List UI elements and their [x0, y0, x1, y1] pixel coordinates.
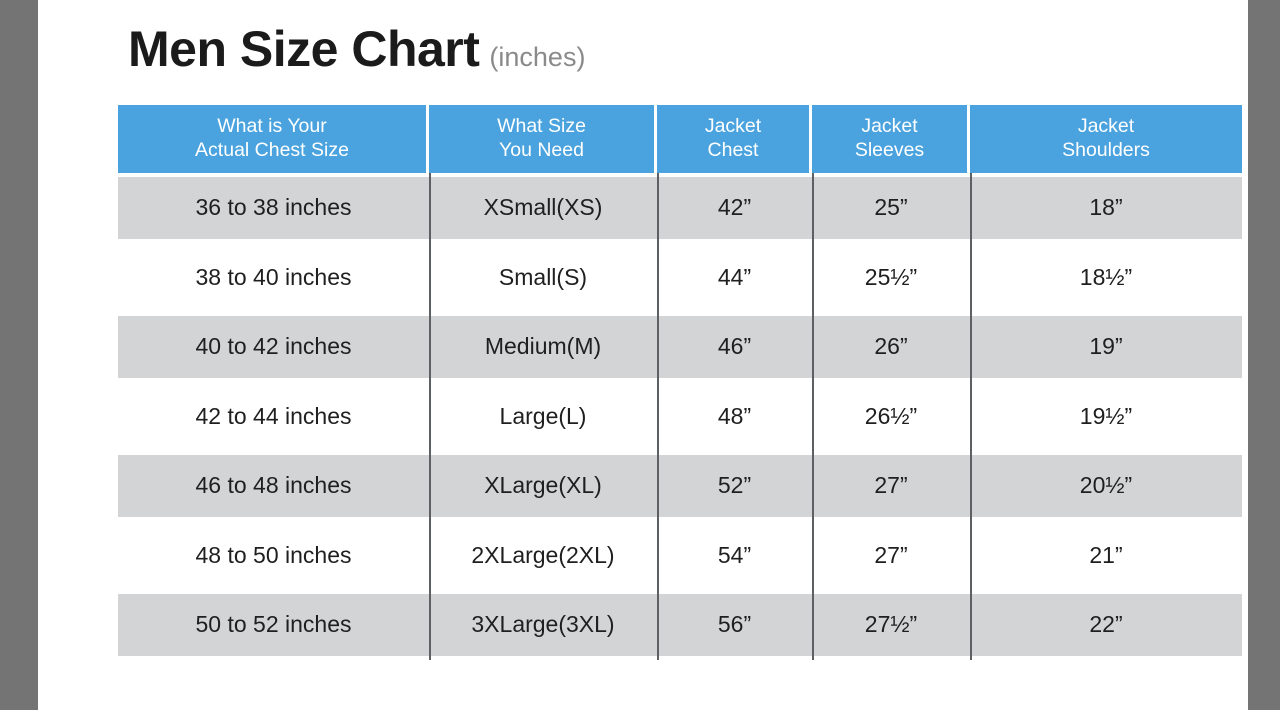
cell-actual-chest-size: 40 to 42 inches	[118, 312, 429, 382]
column-divider-3	[812, 173, 814, 660]
page-title-units: (inches)	[489, 42, 585, 73]
cell-jacket-sleeves: 25”	[812, 173, 970, 243]
page-title-main: Men Size Chart	[128, 20, 479, 78]
column-header-line1: What is Your	[217, 115, 326, 139]
cell-jacket-shoulders: 20½”	[970, 451, 1242, 521]
column-header-jacket-shoulders: Jacket Shoulders	[970, 105, 1242, 173]
column-divider-2	[657, 173, 659, 660]
table-row: 42 to 44 inchesLarge(L)48”26½”19½”	[118, 382, 1242, 452]
column-header-line1: Jacket	[861, 115, 917, 139]
cell-jacket-chest: 44”	[657, 243, 812, 313]
cell-jacket-sleeves: 27½”	[812, 590, 970, 660]
column-header-actual-chest-size: What is Your Actual Chest Size	[118, 105, 429, 173]
cell-jacket-sleeves: 25½”	[812, 243, 970, 313]
cell-jacket-chest: 52”	[657, 451, 812, 521]
cell-size-you-need: Small(S)	[429, 243, 657, 313]
column-divider-4	[970, 173, 972, 660]
cell-size-you-need: XLarge(XL)	[429, 451, 657, 521]
slide-canvas: Men Size Chart (inches) What is Your Act…	[38, 0, 1248, 710]
table-row: 46 to 48 inchesXLarge(XL)52”27”20½”	[118, 451, 1242, 521]
column-header-line2: Sleeves	[855, 139, 924, 163]
cell-jacket-chest: 46”	[657, 312, 812, 382]
cell-size-you-need: 3XLarge(3XL)	[429, 590, 657, 660]
column-header-jacket-chest: Jacket Chest	[657, 105, 812, 173]
page-title: Men Size Chart (inches)	[128, 20, 585, 78]
cell-jacket-shoulders: 18”	[970, 173, 1242, 243]
table-row: 50 to 52 inches3XLarge(3XL)56”27½”22”	[118, 590, 1242, 660]
cell-jacket-shoulders: 18½”	[970, 243, 1242, 313]
cell-jacket-chest: 56”	[657, 590, 812, 660]
table-row: 40 to 42 inchesMedium(M)46”26”19”	[118, 312, 1242, 382]
cell-size-you-need: Large(L)	[429, 382, 657, 452]
cell-jacket-sleeves: 27”	[812, 451, 970, 521]
column-header-line2: You Need	[499, 139, 584, 163]
column-header-size-you-need: What Size You Need	[429, 105, 657, 173]
column-header-line2: Chest	[708, 139, 759, 163]
cell-actual-chest-size: 38 to 40 inches	[118, 243, 429, 313]
letterbox-bar-right	[1248, 0, 1280, 710]
cell-jacket-shoulders: 19”	[970, 312, 1242, 382]
cell-size-you-need: Medium(M)	[429, 312, 657, 382]
table-row: 48 to 50 inches2XLarge(2XL)54”27”21”	[118, 521, 1242, 591]
cell-jacket-sleeves: 26”	[812, 312, 970, 382]
table-row: 38 to 40 inchesSmall(S)44”25½”18½”	[118, 243, 1242, 313]
letterbox-bar-left	[0, 0, 38, 710]
cell-size-you-need: 2XLarge(2XL)	[429, 521, 657, 591]
cell-actual-chest-size: 50 to 52 inches	[118, 590, 429, 660]
cell-jacket-shoulders: 22”	[970, 590, 1242, 660]
cell-jacket-chest: 54”	[657, 521, 812, 591]
cell-jacket-chest: 42”	[657, 173, 812, 243]
cell-actual-chest-size: 48 to 50 inches	[118, 521, 429, 591]
table-row: 36 to 38 inchesXSmall(XS)42”25”18”	[118, 173, 1242, 243]
table-header-row: What is Your Actual Chest Size What Size…	[118, 105, 1242, 173]
cell-jacket-chest: 48”	[657, 382, 812, 452]
column-header-jacket-sleeves: Jacket Sleeves	[812, 105, 970, 173]
column-divider-1	[429, 173, 431, 660]
column-header-line2: Actual Chest Size	[195, 139, 349, 163]
size-chart-table: What is Your Actual Chest Size What Size…	[118, 105, 1242, 660]
cell-size-you-need: XSmall(XS)	[429, 173, 657, 243]
cell-jacket-sleeves: 26½”	[812, 382, 970, 452]
column-header-line1: Jacket	[705, 115, 761, 139]
cell-actual-chest-size: 36 to 38 inches	[118, 173, 429, 243]
cell-actual-chest-size: 42 to 44 inches	[118, 382, 429, 452]
cell-actual-chest-size: 46 to 48 inches	[118, 451, 429, 521]
cell-jacket-shoulders: 21”	[970, 521, 1242, 591]
table-body: 36 to 38 inchesXSmall(XS)42”25”18”38 to …	[118, 173, 1242, 660]
column-header-line2: Shoulders	[1062, 139, 1150, 163]
cell-jacket-sleeves: 27”	[812, 521, 970, 591]
column-header-line1: What Size	[497, 115, 586, 139]
column-header-line1: Jacket	[1078, 115, 1134, 139]
cell-jacket-shoulders: 19½”	[970, 382, 1242, 452]
